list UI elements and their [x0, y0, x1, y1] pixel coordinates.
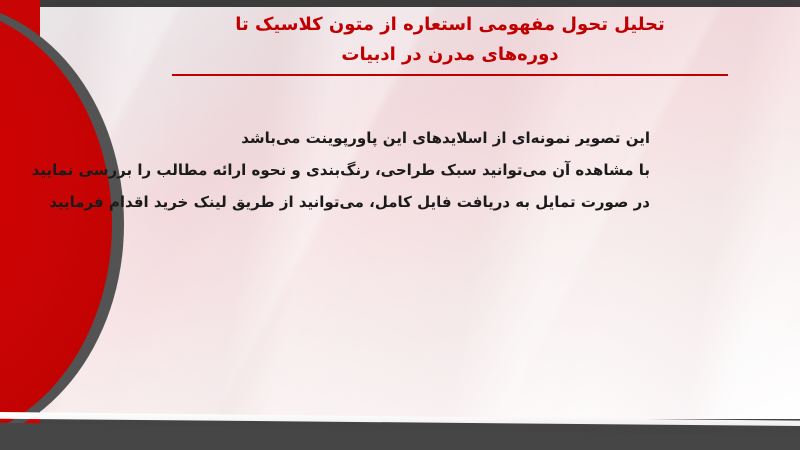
body-line-2: با مشاهده آن می‌توانید سبک طراحی، رنگ‌بن… — [120, 154, 650, 186]
presentation-slide: تحلیل تحول مفهومی استعاره از متون کلاسیک… — [0, 0, 800, 450]
body-line-3: در صورت تمایل به دریافت فایل کامل، می‌تو… — [120, 186, 650, 218]
slide-body-text: این تصویر نمونه‌ای از اسلایدهای این پاور… — [120, 122, 650, 218]
title-underline-rule — [172, 74, 728, 76]
slide-title-line-2: دوره‌های مدرن در ادبیات — [130, 40, 770, 70]
top-border-band — [0, 0, 800, 7]
slide-title: تحلیل تحول مفهومی استعاره از متون کلاسیک… — [130, 10, 770, 76]
slide-title-line-1: تحلیل تحول مفهومی استعاره از متون کلاسیک… — [130, 10, 770, 40]
body-line-1: این تصویر نمونه‌ای از اسلایدهای این پاور… — [120, 122, 650, 154]
